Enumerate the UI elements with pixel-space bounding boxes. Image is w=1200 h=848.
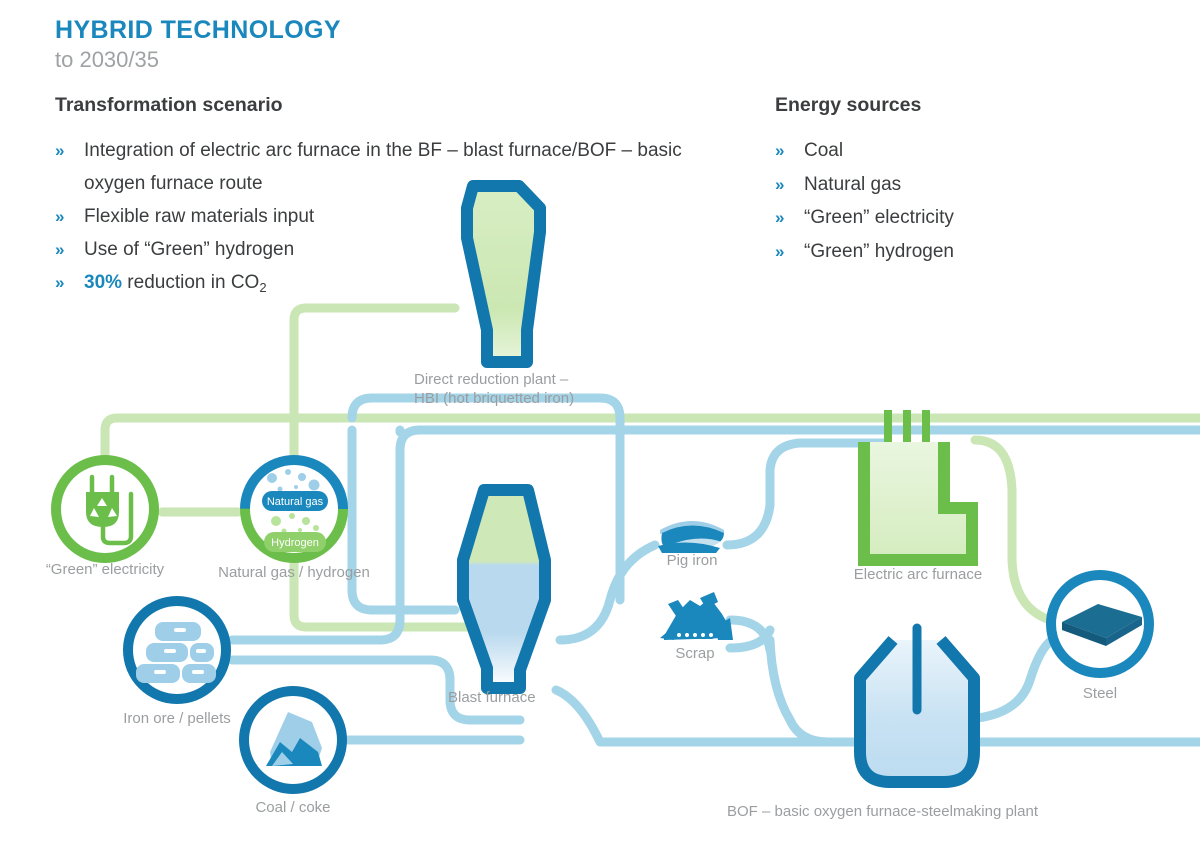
page-title: HYBRID TECHNOLOGY	[55, 16, 341, 45]
scenario-item-4-label: reduction in CO	[122, 272, 259, 293]
natural-gas-pill-label: Natural gas	[267, 496, 324, 508]
coal-coke-icon	[244, 691, 342, 789]
iron-ore-pellets-icon	[128, 601, 226, 699]
label-blast-furnace: Blast furnace	[448, 688, 536, 707]
page-subtitle: to 2030/35	[55, 47, 159, 73]
chevron-icon: »	[55, 200, 62, 233]
energy-sources-list: » Coal » Natural gas » “Green” electrici…	[775, 134, 1155, 268]
energy-item-1: » Coal	[775, 134, 1155, 168]
hydrogen-pill-label: Hydrogen	[271, 537, 319, 549]
chevron-icon: »	[55, 134, 62, 167]
transformation-scenario-heading: Transformation scenario	[55, 94, 283, 117]
energy-sources-heading: Energy sources	[775, 94, 921, 117]
infographic-canvas: Natural gas Hydrogen	[0, 0, 1200, 848]
bof-converter-icon	[860, 628, 974, 782]
chevron-icon: »	[775, 168, 782, 202]
scenario-item-4: » 30% reduction in CO2	[55, 266, 745, 304]
scenario-item-2-label: Flexible raw materials input	[84, 206, 314, 227]
scenario-item-3-label: Use of “Green” hydrogen	[84, 239, 294, 260]
chevron-icon: »	[55, 266, 62, 299]
label-coal-coke: Coal / coke	[198, 798, 388, 817]
label-steel: Steel	[1030, 684, 1170, 703]
transformation-scenario-list: » Integration of electric arc furnace in…	[55, 134, 745, 304]
scrap-icon	[660, 592, 733, 640]
label-scrap: Scrap	[642, 644, 748, 663]
scenario-item-1: » Integration of electric arc furnace in…	[55, 134, 745, 200]
energy-item-4-label: “Green” hydrogen	[804, 241, 954, 262]
chevron-icon: »	[775, 201, 782, 235]
energy-item-2: » Natural gas	[775, 168, 1155, 202]
scenario-item-1-label: Integration of electric arc furnace in t…	[84, 140, 682, 194]
chevron-icon: »	[55, 233, 62, 266]
label-natural-gas-hydrogen: Natural gas / hydrogen	[199, 563, 389, 582]
chevron-icon: »	[775, 235, 782, 269]
label-electric-arc-furnace: Electric arc furnace	[818, 565, 1018, 584]
label-bof-plant: BOF – basic oxygen furnace-steelmaking p…	[727, 802, 1038, 821]
label-iron-ore-pellets: Iron ore / pellets	[82, 709, 272, 728]
steel-icon	[1051, 575, 1149, 673]
scenario-item-4-subscript: 2	[259, 280, 266, 295]
label-direct-reduction-plant: Direct reduction plant – HBI (hot brique…	[414, 370, 714, 408]
pig-iron-icon	[658, 521, 724, 553]
scenario-item-3: » Use of “Green” hydrogen	[55, 233, 745, 266]
energy-item-3-label: “Green” electricity	[804, 207, 954, 228]
blast-furnace-icon	[463, 490, 545, 688]
energy-item-2-label: Natural gas	[804, 174, 901, 195]
energy-item-3: » “Green” electricity	[775, 201, 1155, 235]
electric-arc-furnace-icon	[864, 410, 972, 560]
natural-gas-hydrogen-icon: Natural gas Hydrogen	[245, 460, 343, 558]
energy-item-4: » “Green” hydrogen	[775, 235, 1155, 269]
label-pig-iron: Pig iron	[637, 551, 747, 570]
green-electricity-icon	[56, 460, 154, 558]
label-green-electricity: “Green” electricity	[10, 560, 200, 579]
chevron-icon: »	[775, 134, 782, 168]
scenario-item-4-accent: 30%	[84, 272, 122, 293]
energy-item-1-label: Coal	[804, 140, 843, 161]
scenario-item-2: » Flexible raw materials input	[55, 200, 745, 233]
